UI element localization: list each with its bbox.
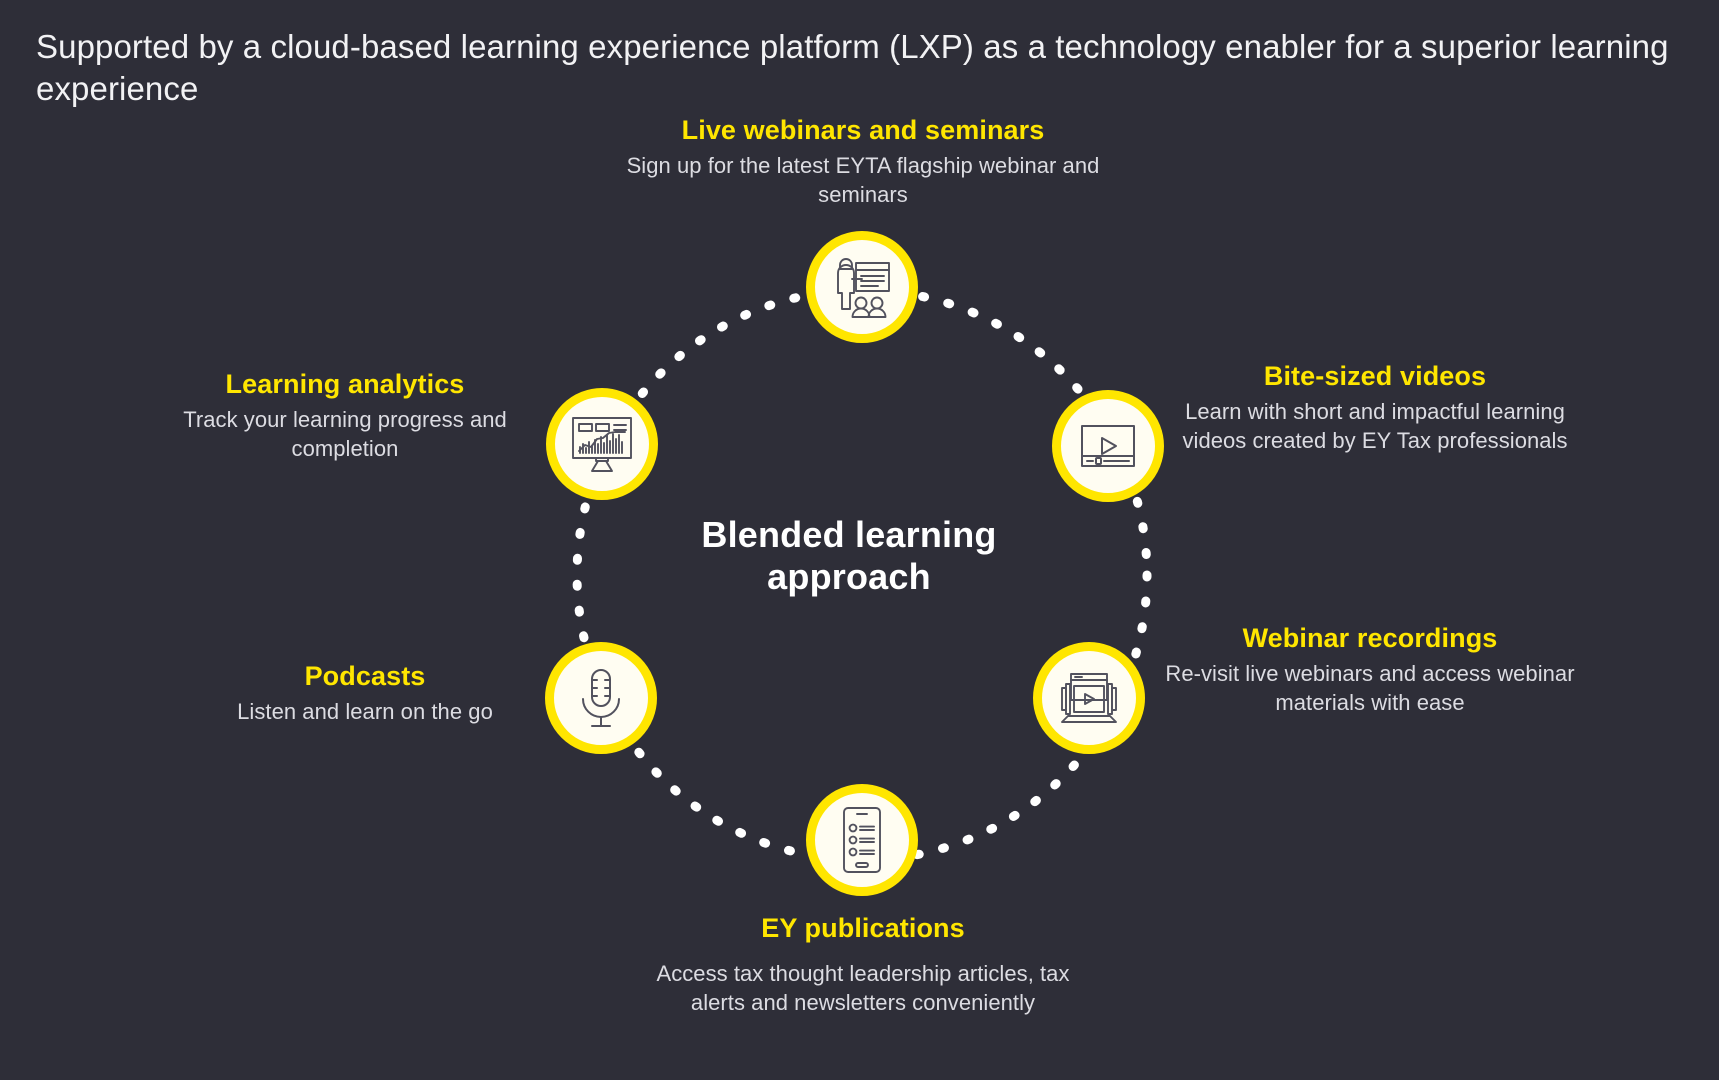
heading-learning-analytics: Learning analytics	[160, 368, 530, 400]
blended-learning-diagram: Blended learning approach	[0, 0, 1719, 1080]
desc-learning-analytics: Track your learning progress and complet…	[160, 406, 530, 462]
center-label: Blended learning approach	[639, 514, 1059, 599]
desc-ey-publications: Access tax thought leadership articles, …	[632, 960, 1094, 1016]
desc-live-webinars: Sign up for the latest EYTA flagship web…	[585, 152, 1141, 208]
desc-podcasts: Listen and learn on the go	[200, 698, 530, 726]
node-live-webinars[interactable]	[806, 231, 918, 343]
node-ey-publications[interactable]	[806, 784, 918, 896]
dashboard-monitor-icon	[569, 413, 635, 475]
desc-bite-sized-videos: Learn with short and impactful learning …	[1160, 398, 1590, 454]
node-bite-sized-videos[interactable]	[1052, 390, 1164, 502]
label-learning-analytics: Learning analytics Track your learning p…	[160, 368, 530, 463]
label-ey-publications: EY publications Access tax thought leade…	[632, 912, 1094, 1017]
video-player-icon	[1076, 414, 1140, 478]
label-podcasts: Podcasts Listen and learn on the go	[200, 660, 530, 727]
label-live-webinars: Live webinars and seminars Sign up for t…	[585, 114, 1141, 209]
presenter-whiteboard-icon	[826, 251, 898, 323]
microphone-icon	[572, 665, 630, 731]
center-label-line2: approach	[639, 556, 1059, 598]
slide-canvas: Supported by a cloud-based learning expe…	[0, 0, 1719, 1080]
node-learning-analytics[interactable]	[546, 388, 658, 500]
center-label-line1: Blended learning	[639, 514, 1059, 556]
label-bite-sized-videos: Bite-sized videos Learn with short and i…	[1160, 360, 1590, 455]
node-podcasts[interactable]	[545, 642, 657, 754]
stacked-video-windows-icon	[1056, 666, 1122, 730]
node-webinar-recordings[interactable]	[1033, 642, 1145, 754]
label-webinar-recordings: Webinar recordings Re-visit live webinar…	[1140, 622, 1600, 717]
heading-live-webinars: Live webinars and seminars	[585, 114, 1141, 146]
heading-ey-publications: EY publications	[632, 912, 1094, 944]
heading-webinar-recordings: Webinar recordings	[1140, 622, 1600, 654]
heading-bite-sized-videos: Bite-sized videos	[1160, 360, 1590, 392]
desc-webinar-recordings: Re-visit live webinars and access webina…	[1140, 660, 1600, 716]
tablet-list-icon	[833, 805, 891, 875]
heading-podcasts: Podcasts	[200, 660, 530, 692]
